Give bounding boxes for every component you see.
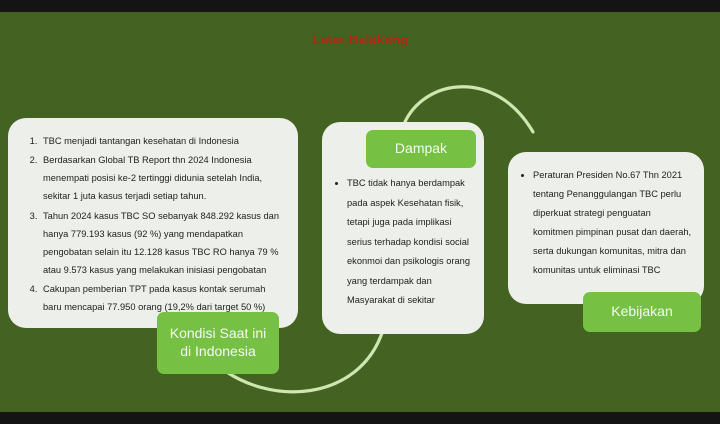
list-item: Tahun 2024 kasus TBC SO sebanyak 848.292…	[40, 207, 284, 280]
list-item: TBC tidak hanya berdampak pada aspek Kes…	[347, 174, 472, 311]
page-title: Latar Belakang	[0, 32, 720, 47]
kondisi-list: TBC menjadi tantangan kesehatan di Indon…	[18, 132, 284, 316]
slide-canvas: Latar Belakang TBC menjadi tantangan kes…	[0, 12, 720, 412]
list-item: Berdasarkan Global TB Report thn 2024 In…	[40, 151, 284, 205]
list-item: Cakupan pemberian TPT pada kasus kontak …	[40, 280, 284, 316]
list-item: Peraturan Presiden No.67 Thn 2021 tentan…	[533, 166, 692, 280]
slide-root: Latar Belakang TBC menjadi tantangan kes…	[0, 0, 720, 424]
bottom-letterbox-bar	[0, 412, 720, 424]
top-letterbox-bar	[0, 0, 720, 12]
tag-kondisi: Kondisi Saat ini di Indonesia	[157, 312, 279, 374]
kebijakan-card: Peraturan Presiden No.67 Thn 2021 tentan…	[508, 152, 704, 304]
tag-dampak: Dampak	[366, 130, 476, 168]
kondisi-card: TBC menjadi tantangan kesehatan di Indon…	[8, 118, 298, 328]
kebijakan-list: Peraturan Presiden No.67 Thn 2021 tentan…	[518, 166, 692, 280]
list-item: TBC menjadi tantangan kesehatan di Indon…	[40, 132, 284, 150]
tag-kebijakan: Kebijakan	[583, 292, 701, 332]
dampak-list: TBC tidak hanya berdampak pada aspek Kes…	[332, 174, 472, 311]
